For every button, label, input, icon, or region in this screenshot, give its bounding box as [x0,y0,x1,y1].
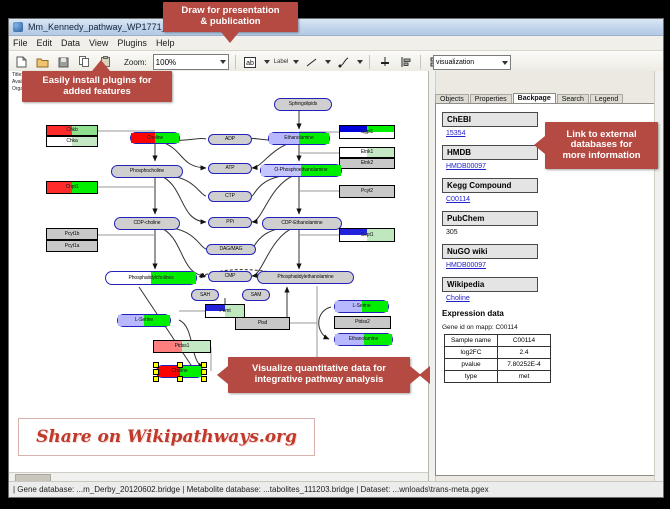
node-label: Pcyt1a [65,244,80,249]
node-sgpl1[interactable]: Sgpl1 [339,125,395,139]
callout-draw-arrow [221,32,239,43]
toolbar-separator [235,55,236,69]
db-header-wikipedia: Wikipedia [442,277,538,292]
node-label: DAG/MAG [220,247,243,252]
node-label: Ethanolamine [349,337,378,342]
node-label: ATP [225,166,234,171]
node-cdp-choline[interactable]: CDP-choline [114,217,180,230]
node-label: L-Serine [352,304,370,309]
table-row: log2FC 2.4 [445,347,551,359]
menu-item-plugins[interactable]: Plugins [117,38,147,48]
copy-icon[interactable] [76,54,93,71]
node-label: Ptdss1 [175,344,190,349]
visualization-select[interactable]: visualization [433,55,511,70]
node-adp[interactable]: ADP [208,134,252,145]
node-label: Sphingolipids [289,102,317,107]
callout-visualize: Visualize quantitative data for integrat… [228,357,410,393]
node-ptdss1[interactable]: Ptdss1 [153,340,211,353]
anchor-icon[interactable] [376,54,393,71]
expression-data-heading: Expression data [442,309,656,318]
title-bar: Mm_Kennedy_pathway_WP1771_45176.gpml [9,19,663,36]
callout-plugins: Easily install plugins for added feature… [22,71,172,102]
node-pcyt2[interactable]: Pcyt2 [339,185,395,198]
node-label: PPi [226,220,233,225]
node-label: Chpt1 [66,185,79,190]
node-choline[interactable]: Choline [130,132,180,144]
node-label: O-Phosphoethanolamine [274,168,327,173]
node-label: Chka [66,139,77,144]
cell-value: 2.4 [498,347,551,359]
zoom-value: 100% [156,58,176,67]
node-label: L-Serine [135,318,153,323]
node-label: Sgpl1 [361,130,373,135]
svg-text:ab: ab [246,60,254,67]
zoom-label: Zoom: [124,58,147,67]
node-chkb[interactable]: Chkb [46,125,98,136]
chevron-down-icon[interactable] [325,60,331,64]
zoom-combobox[interactable]: 100% [153,54,229,70]
node-label: Cept1 [361,233,374,238]
interaction-tool-icon[interactable] [335,54,352,71]
node-label: ADP [225,137,235,142]
menu-bar: File Edit Data View Plugins Help [9,36,663,51]
node-l-serine-left[interactable]: L-Serine [117,314,171,327]
node-phosphatidylethanolamine[interactable]: Phosphatidylethanolamine [257,271,354,284]
table-row: type met [445,371,551,383]
node-label: Choline [171,369,187,374]
selection-handle[interactable] [177,376,183,382]
toolbar-separator [420,55,421,69]
node-label: Phosphocholine [130,169,164,174]
chevron-down-icon[interactable] [357,60,363,64]
selection-handle[interactable] [153,376,159,382]
selection-handle[interactable] [153,362,159,368]
open-folder-icon[interactable] [34,54,51,71]
node-label: Phosphatidylethanolamine [277,275,333,280]
node-phosphocholine[interactable]: Phosphocholine [111,165,183,178]
screenshot-root: Mm_Kennedy_pathway_WP1771_45176.gpml Fil… [0,0,670,509]
node-l-serine-right[interactable]: L-Serine [334,300,389,313]
expression-table: Sample name C00114 log2FC 2.4 pvalue 7.8… [444,334,551,383]
visualization-value: visualization [436,59,474,66]
cell-key: type [445,371,498,383]
db-header-nugo: NuGO wiki [442,244,538,259]
text-label-icon[interactable]: ab [242,54,259,71]
node-sam[interactable]: SAM [242,289,270,301]
node-pisd[interactable]: Pisd [235,317,290,330]
node-label: Etnk1 [361,150,373,155]
db-block-wikipedia: Wikipedia Choline [442,274,656,302]
db-header-pubchem: PubChem [442,211,538,226]
chevron-down-icon[interactable] [264,60,270,64]
chevron-down-icon [220,60,226,64]
node-label: Pcyt2 [361,189,373,194]
node-label: CMP [225,274,236,279]
node-pemt[interactable]: Pemt [205,304,245,318]
table-row: pvalue 7.80252E-4 [445,359,551,371]
selection-handle[interactable] [201,362,207,368]
node-chpt1[interactable]: Chpt1 [46,181,98,194]
node-sah[interactable]: SAH [191,289,219,301]
node-label: Choline [147,136,163,141]
menu-item-file[interactable]: File [13,38,28,48]
selection-handle[interactable] [153,369,159,375]
node-phosphatidylcholines[interactable]: Phosphatidylcholines [105,271,197,285]
node-label: CDP-Ethanolamine [281,221,322,226]
menu-item-edit[interactable]: Edit [37,38,53,48]
node-ptdss2[interactable]: Ptdss2 [334,316,391,329]
node-label: Ptdss2 [355,320,370,325]
share-banner: Share on Wikipathways.org [18,418,315,456]
db-header-hmdb: HMDB [442,145,538,160]
callout-draw: Draw for presentation & publication [163,2,298,32]
align-left-icon[interactable] [397,54,414,71]
node-cept1[interactable]: Cept1 [339,228,395,242]
node-label: Ethanolamine [284,136,313,141]
db-block-kegg: Kegg Compound C00114 [442,175,656,203]
db-link-nugo[interactable]: HMDB00097 [446,262,656,269]
save-icon[interactable] [55,54,72,71]
node-etnk2[interactable]: Etnk2 [339,158,395,169]
new-file-icon[interactable] [13,54,30,71]
node-label: CTP [225,194,235,199]
cell-key: pvalue [445,359,498,371]
node-pcyt1b[interactable]: Pcyt1b [46,228,98,240]
node-cmp[interactable]: CMP [208,271,252,282]
db-block-pubchem: PubChem 305 [442,208,656,236]
db-value-pubchem: 305 [446,229,656,236]
selection-handle[interactable] [201,369,207,375]
callout-links-arrow [534,136,545,154]
gene-id-line: Gene id on mapp: C00114 [442,324,656,331]
callout-visualize-arrow-left [217,366,228,384]
chevron-down-icon[interactable] [293,60,299,64]
menu-item-view[interactable]: View [89,38,108,48]
node-sphingolipids[interactable]: Sphingolipids [274,98,332,111]
selection-handle[interactable] [201,376,207,382]
db-link-kegg[interactable]: C00114 [446,196,656,203]
node-label: Pisd [258,321,267,326]
node-cdp-ethanolamine[interactable]: CDP-Ethanolamine [262,217,342,230]
node-ethanolamine-2[interactable]: Ethanolamine [334,333,393,346]
node-label: SAM [251,293,262,298]
db-link-wikipedia[interactable]: Choline [446,295,656,302]
cell-value: 7.80252E-4 [498,359,551,371]
node-label: Etnk2 [361,161,373,166]
node-label: Phosphatidylcholines [129,276,174,281]
db-header-kegg: Kegg Compound [442,178,538,193]
label-tool-text[interactable]: Label [274,59,289,65]
share-text: Share on Wikipathways.org [36,427,297,447]
node-label: Chkb [66,128,77,133]
node-chka[interactable]: Chka [46,136,98,147]
cell-key: Sample name [445,335,498,347]
callout-links: Link to external databases for more info… [545,122,658,169]
db-header-chebi: ChEBI [442,112,538,127]
node-pcyt1a[interactable]: Pcyt1a [46,240,98,252]
menu-item-help[interactable]: Help [156,38,175,48]
node-label: Pemt [219,309,230,314]
toolbar-separator [369,55,370,69]
cell-value: met [498,371,551,383]
node-ethanolamine[interactable]: Ethanolamine [268,132,330,145]
node-o-phosphoethanolamine[interactable]: O-Phosphoethanolamine [260,164,342,177]
table-row: Sample name C00114 [445,335,551,347]
status-bar: | Gene database: ...m_Derby_20120602.bri… [9,481,663,497]
menu-item-data[interactable]: Data [61,38,80,48]
cell-key: log2FC [445,347,498,359]
chevron-down-icon [502,61,508,65]
cell-value: C00114 [498,335,551,347]
line-tool-icon[interactable] [303,54,320,71]
node-label: Pcyt1b [65,232,80,237]
callout-plugins-arrow [92,60,110,71]
selection-handle[interactable] [177,362,183,368]
node-label: CDP-choline [134,221,161,226]
db-block-nugo: NuGO wiki HMDB00097 [442,241,656,269]
callout-visualize-arrow-panel [419,366,430,384]
node-label: SAH [200,293,210,298]
node-atp[interactable]: ATP [208,163,252,174]
node-ctp[interactable]: CTP [208,191,252,202]
app-icon [13,22,23,32]
status-text: | Gene database: ...m_Derby_20120602.bri… [9,485,489,494]
node-etnk1[interactable]: Etnk1 [339,147,395,158]
node-dag-mag[interactable]: DAG/MAG [206,244,256,255]
node-ppi[interactable]: PPi [208,217,252,228]
